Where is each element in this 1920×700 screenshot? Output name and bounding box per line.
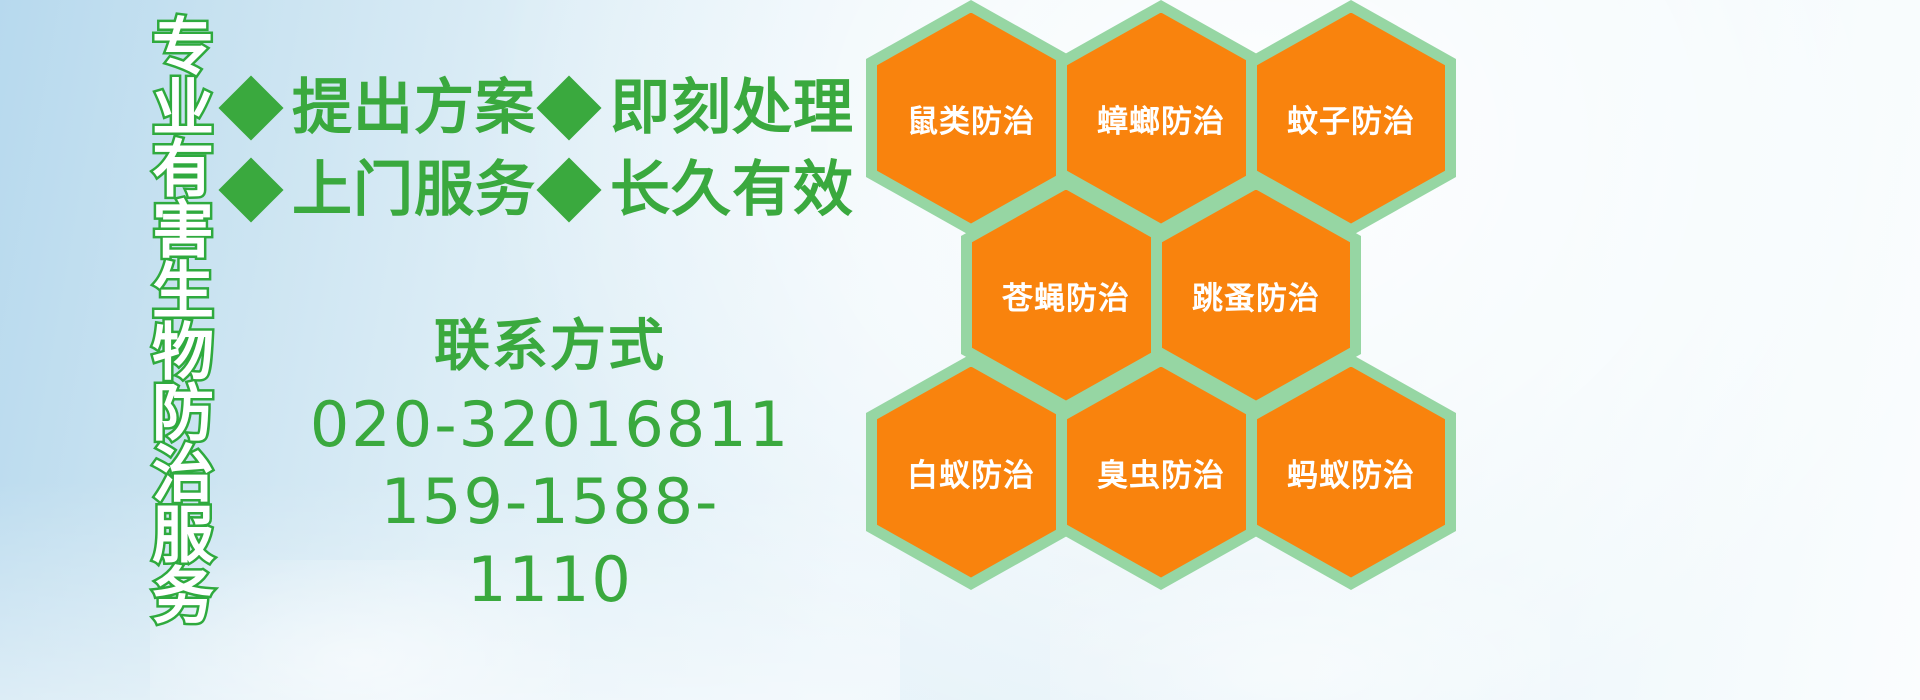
diamond-icon xyxy=(218,75,283,140)
hex-label: 蚂蚁防治 xyxy=(1287,450,1415,495)
feature-row: 上门服务 长久有效 xyxy=(228,160,868,220)
feature-list: 提出方案 即刻处理 上门服务 长久有效 xyxy=(228,78,868,242)
hex-label: 苍蝇防治 xyxy=(1002,273,1130,318)
diamond-icon xyxy=(218,157,283,222)
contact-phone-mobile[interactable]: 159-1588-1110 xyxy=(300,463,800,618)
vertical-slogan: 专业有害生物防治服务 xyxy=(108,14,208,574)
feature-label: 上门服务 xyxy=(292,160,536,220)
hex-label: 蚊子防治 xyxy=(1287,96,1415,141)
hex-label: 白蚁防治 xyxy=(907,450,1035,495)
feature-label: 长久有效 xyxy=(610,160,854,220)
feature-label: 提出方案 xyxy=(292,78,536,138)
hex-inner: 蚂蚁防治 xyxy=(1257,367,1445,578)
feature-item-immediate-handling: 即刻处理 xyxy=(546,78,854,138)
hex-inner: 白蚁防治 xyxy=(877,367,1065,578)
contact-block: 联系方式 020-32016811 159-1588-1110 xyxy=(300,316,800,618)
hex-label: 蟑螂防治 xyxy=(1097,96,1225,141)
feature-label: 即刻处理 xyxy=(610,78,854,138)
feature-item-onsite-service: 上门服务 xyxy=(228,160,546,220)
background-glow-right xyxy=(1050,570,1550,700)
hex-label: 跳蚤防治 xyxy=(1192,273,1320,318)
service-honeycomb: 鼠类防治 蟑螂防治 蚊子防治 苍蝇防治 跳蚤防治 白蚁防治 xyxy=(860,0,1480,566)
hex-inner: 蟑螂防治 xyxy=(1067,13,1255,224)
hex-inner: 蚊子防治 xyxy=(1257,13,1445,224)
hex-inner: 跳蚤防治 xyxy=(1162,190,1350,401)
diamond-icon xyxy=(536,157,601,222)
feature-item-propose-plan: 提出方案 xyxy=(228,78,546,138)
feature-item-long-lasting: 长久有效 xyxy=(546,160,854,220)
contact-phone-landline[interactable]: 020-32016811 xyxy=(300,386,800,464)
feature-row: 提出方案 即刻处理 xyxy=(228,78,868,138)
hex-inner: 苍蝇防治 xyxy=(972,190,1160,401)
hex-label: 鼠类防治 xyxy=(907,96,1035,141)
hex-label: 臭虫防治 xyxy=(1097,450,1225,495)
hex-inner: 臭虫防治 xyxy=(1067,367,1255,578)
promo-banner: 专业有害生物防治服务 提出方案 即刻处理 上门服务 长久有效 联 xyxy=(0,0,1920,700)
hex-inner: 鼠类防治 xyxy=(877,13,1065,224)
diamond-icon xyxy=(536,75,601,140)
contact-title: 联系方式 xyxy=(300,316,800,378)
